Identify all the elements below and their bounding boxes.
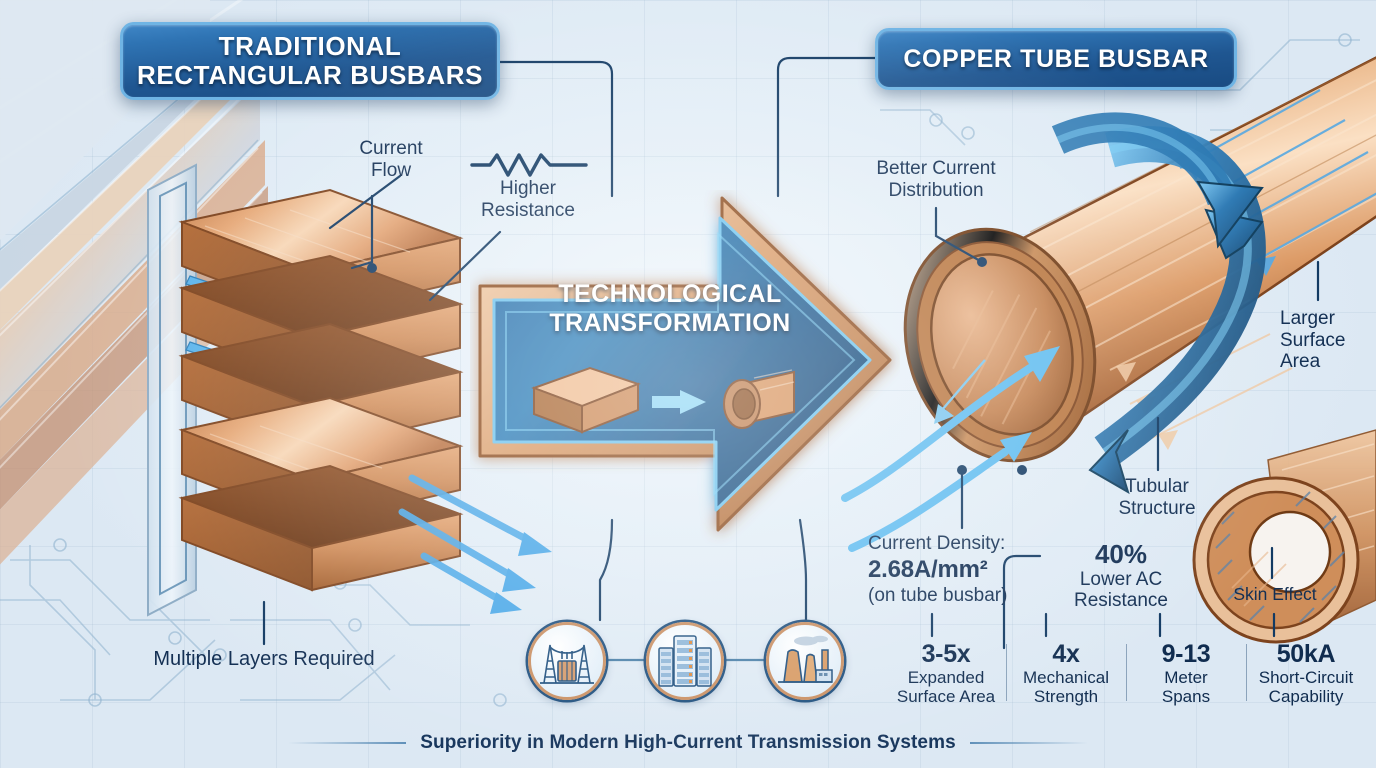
- label-multiple-layers-required: Multiple Layers Required: [118, 648, 410, 671]
- server-rack-glyph: [657, 634, 713, 688]
- stat-value: 4x: [1008, 640, 1124, 668]
- label-larger-surface-area: Larger Surface Area: [1280, 308, 1376, 373]
- stat-item: 4x Mechanical Strength: [1006, 640, 1126, 707]
- resistor-zigzag-icon: [470, 150, 588, 180]
- stat-item: 9-13 Meter Spans: [1126, 640, 1246, 707]
- footer-rule-left: [288, 742, 406, 744]
- footer-rule-right: [970, 742, 1088, 744]
- ac-resistance-value: 40%: [1046, 540, 1196, 569]
- stat-value: 3-5x: [888, 640, 1004, 668]
- footer: Superiority in Modern High-Current Trans…: [0, 732, 1376, 754]
- transmission-tower-glyph: [538, 635, 596, 687]
- footer-text: Superiority in Modern High-Current Trans…: [420, 732, 956, 754]
- stat-value: 9-13: [1128, 640, 1244, 668]
- label-current-flow: Current Flow: [335, 138, 447, 181]
- cooling-tower-glyph: [776, 634, 834, 688]
- stat-label: Mechanical Strength: [1008, 668, 1124, 707]
- technological-transformation-arrow: TECHNOLOGICAL TRANSFORMATION: [470, 190, 900, 580]
- substation-icon[interactable]: [528, 622, 606, 700]
- label-tubular-structure: Tubular Structure: [1098, 476, 1216, 519]
- banner-copper-tube-busbar[interactable]: COPPER TUBE BUSBAR: [875, 28, 1237, 90]
- banner-traditional-rectangular-busbars[interactable]: TRADITIONAL RECTANGULAR BUSBARS: [120, 22, 500, 100]
- ac-resistance-label: Lower AC Resistance: [1046, 569, 1196, 612]
- stat-value: 50kA: [1248, 640, 1364, 668]
- stat-label: Meter Spans: [1128, 668, 1244, 707]
- stat-label: Expanded Surface Area: [888, 668, 1004, 707]
- stat-item: 3-5x Expanded Surface Area: [886, 640, 1006, 707]
- stat-label: Short-Circuit Capability: [1248, 668, 1364, 707]
- label-skin-effect: Skin Effect: [1200, 585, 1350, 605]
- stat-item: 50kA Short-Circuit Capability: [1246, 640, 1366, 707]
- label-better-current-distribution: Better Current Distribution: [852, 158, 1020, 201]
- ac-resistance-block: 40% Lower AC Resistance: [1046, 540, 1196, 612]
- datacenter-icon[interactable]: [646, 622, 724, 700]
- statistics-row: 3-5x Expanded Surface Area 4x Mechanical…: [886, 640, 1366, 720]
- infographic-canvas: TECHNOLOGICAL TRANSFORMATION: [0, 0, 1376, 768]
- powerplant-icon[interactable]: [766, 622, 844, 700]
- label-higher-resistance: Higher Resistance: [462, 178, 594, 221]
